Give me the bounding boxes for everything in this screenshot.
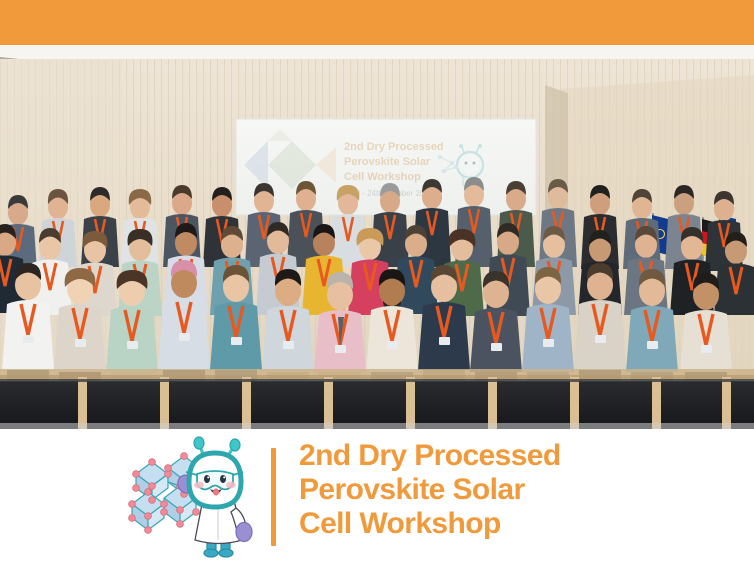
group-photo-image: 2nd Dry Processed Perovskite Solar Cell … bbox=[0, 45, 754, 429]
workshop-title-line-3: Cell Workshop bbox=[299, 509, 739, 539]
perovskite-robot-mascot-icon bbox=[118, 434, 266, 560]
workshop-title-line-2: Perovskite Solar bbox=[299, 475, 739, 505]
workshop-title: 2nd Dry Processed Perovskite Solar Cell … bbox=[299, 441, 739, 543]
workshop-banner-page: 2nd Dry Processed Perovskite Solar Cell … bbox=[0, 0, 754, 581]
orange-header-band bbox=[0, 0, 754, 45]
svg-text:Cell Workshop: Cell Workshop bbox=[344, 171, 421, 183]
workshop-title-line-1: 2nd Dry Processed bbox=[299, 441, 739, 471]
svg-text:Perovskite Solar: Perovskite Solar bbox=[344, 156, 431, 168]
orange-vertical-divider bbox=[271, 448, 276, 546]
group-photo: 2nd Dry Processed Perovskite Solar Cell … bbox=[0, 45, 754, 429]
svg-text:2nd Dry Processed: 2nd Dry Processed bbox=[344, 141, 444, 153]
footer-branding: 2nd Dry Processed Perovskite Solar Cell … bbox=[0, 429, 754, 581]
